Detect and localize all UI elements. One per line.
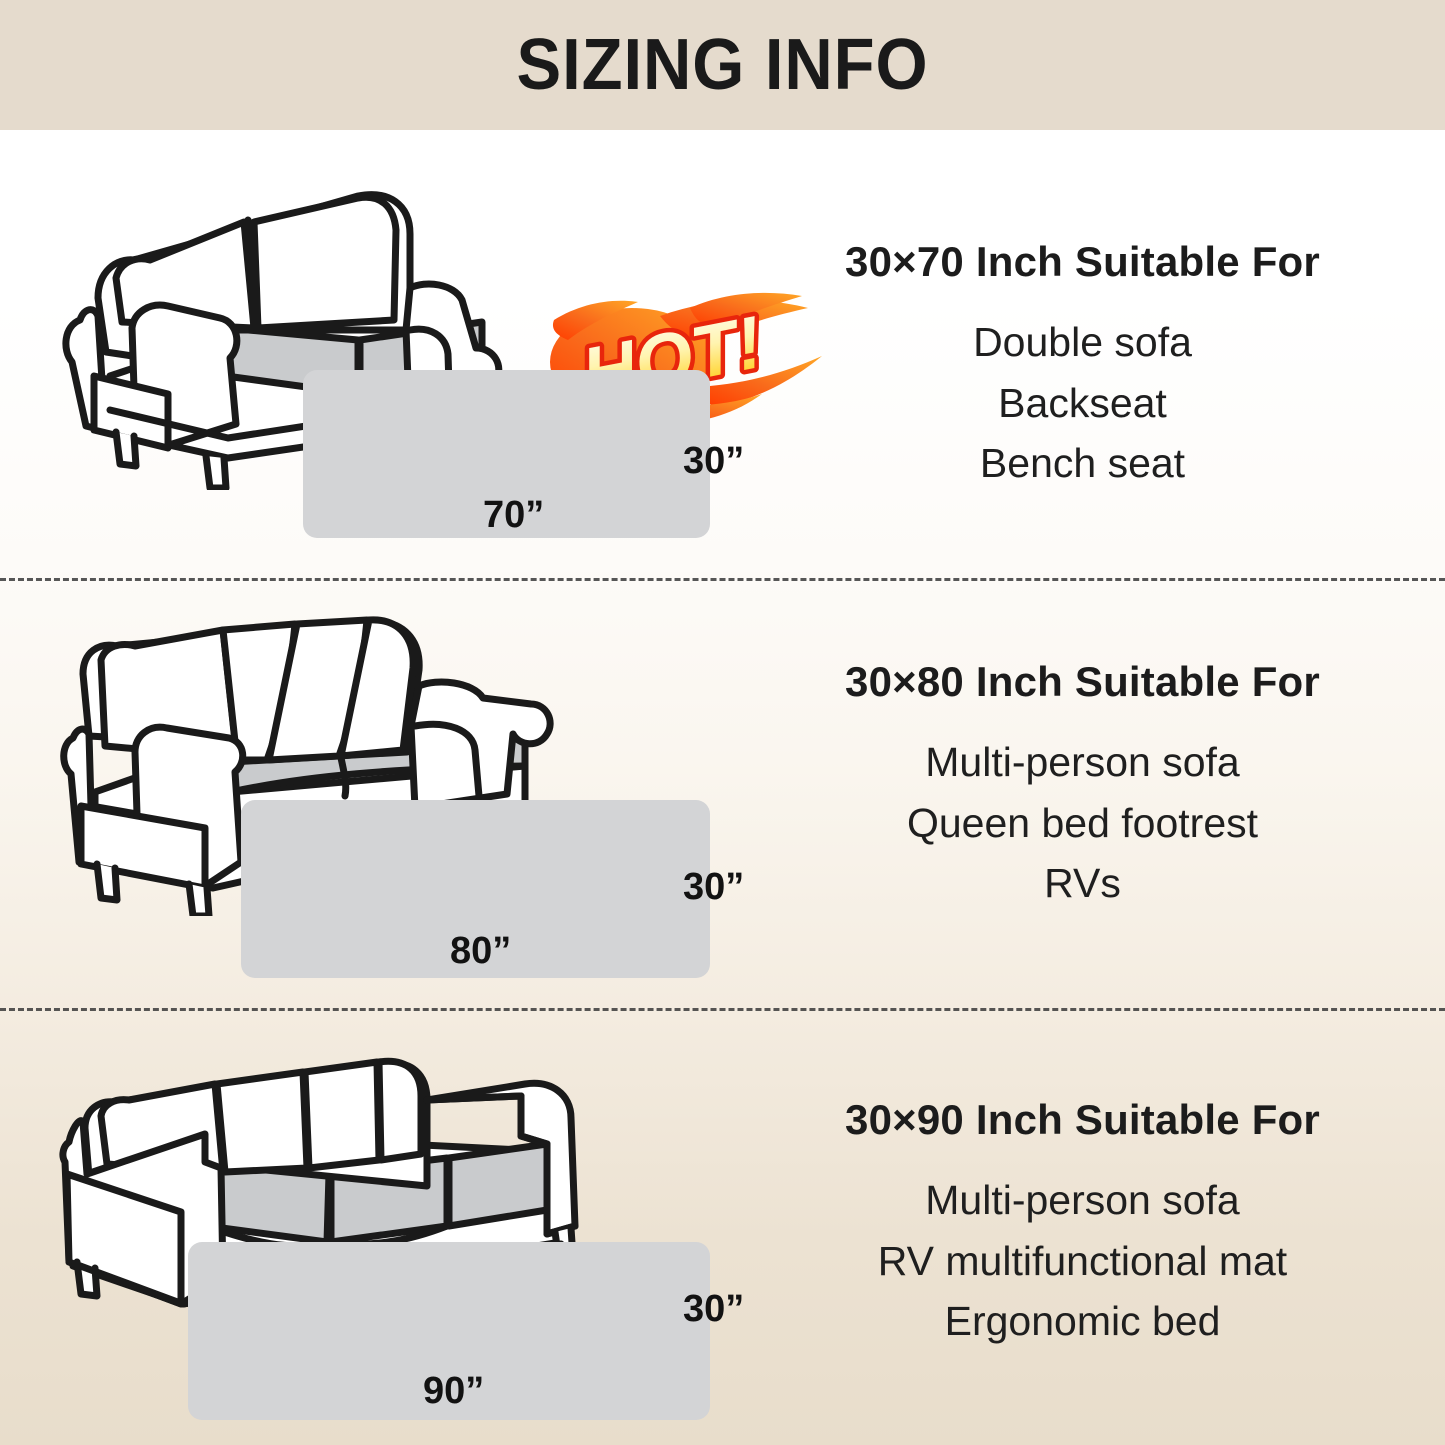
mat-depth-label-30: 30” [683, 440, 744, 483]
use-list-30x70: Double sofa Backseat Bench seat [790, 312, 1375, 494]
use-list-30x90: Multi-person sofa RV multifunctional mat… [790, 1170, 1375, 1352]
mat-width-label-80: 80” [450, 930, 511, 973]
size-section-30x70: HOT! HOT! 70” 30” 30×70 Inch Suitable Fo… [0, 130, 1445, 578]
use-line: Ergonomic bed [790, 1291, 1375, 1352]
size-section-30x90: 90” 30” 30×90 Inch Suitable For Multi-pe… [0, 1008, 1445, 1445]
text-column-30x90: 30×90 Inch Suitable For Multi-person sof… [790, 1096, 1375, 1352]
sizing-info-infographic: SIZING INFO [0, 0, 1445, 1445]
page-title: SIZING INFO [517, 29, 929, 101]
mat-depth-label-30: 30” [683, 866, 744, 909]
text-column-30x70: 30×70 Inch Suitable For Double sofa Back… [790, 238, 1375, 494]
use-list-30x80: Multi-person sofa Queen bed footrest RVs [790, 732, 1375, 914]
size-heading-30x90: 30×90 Inch Suitable For [790, 1096, 1375, 1144]
use-line: Double sofa [790, 312, 1375, 373]
use-line: Multi-person sofa [790, 732, 1375, 793]
use-line: RV multifunctional mat [790, 1231, 1375, 1292]
size-heading-30x80: 30×80 Inch Suitable For [790, 658, 1375, 706]
use-line: Multi-person sofa [790, 1170, 1375, 1231]
use-line: Bench seat [790, 433, 1375, 494]
mat-width-label-90: 90” [423, 1370, 484, 1413]
size-heading-30x70: 30×70 Inch Suitable For [790, 238, 1375, 286]
mat-depth-label-30: 30” [683, 1288, 744, 1331]
size-section-30x80: 80” 30” 30×80 Inch Suitable For Multi-pe… [0, 578, 1445, 1008]
use-line: Queen bed footrest [790, 793, 1375, 854]
use-line: Backseat [790, 373, 1375, 434]
use-line: RVs [790, 853, 1375, 914]
mat-width-label-70: 70” [483, 494, 544, 537]
header-banner: SIZING INFO [0, 0, 1445, 130]
text-column-30x80: 30×80 Inch Suitable For Multi-person sof… [790, 658, 1375, 914]
